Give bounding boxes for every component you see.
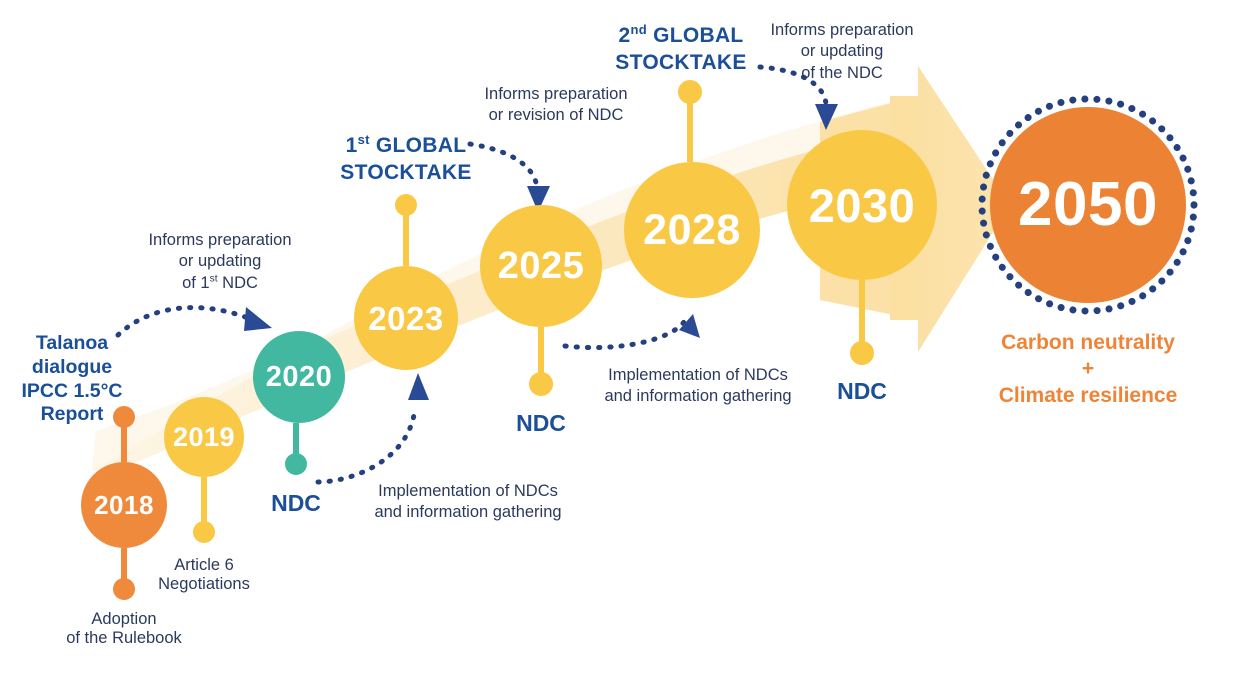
annotation-4-line-1: Implementation of NDCs — [600, 365, 796, 386]
label-2nd-global-stocktake: 2nd GLOBAL STOCKTAKE — [588, 23, 774, 77]
milestone-2028-year: 2028 — [643, 209, 741, 252]
milestone-2019-year: 2019 — [173, 424, 235, 451]
label-talanoa-line-4: Report — [6, 403, 138, 427]
milestone-2023-year: 2023 — [368, 302, 443, 335]
annotation-1-of-1: of 1 — [182, 274, 210, 292]
label-2050-line-1: Carbon neutrality — [960, 330, 1216, 356]
annotation-4-line-2: and information gathering — [600, 386, 796, 407]
milestone-2050[interactable]: 2050 — [990, 107, 1186, 303]
label-talanoa-line-2: dialogue — [6, 356, 138, 380]
annotation-2-line-1: Implementation of NDCs — [370, 481, 566, 502]
label-gst2-line-1: 2nd GLOBAL — [588, 23, 774, 50]
label-gst1-number: 1 — [346, 134, 358, 157]
milestone-2020[interactable]: 2020 — [253, 331, 345, 423]
label-adoption-of-the-rulebook: Adoption of the Rulebook — [28, 610, 220, 648]
milestone-2030[interactable]: 2030 — [787, 130, 937, 280]
annotation-1-line-3: of 1st NDC — [104, 273, 336, 294]
label-ndc-2030-text: NDC — [837, 378, 887, 404]
annotation-5-line-2: or updating — [762, 41, 922, 62]
annotation-1-ndc: NDC — [218, 274, 258, 292]
milestone-2030-year: 2030 — [809, 182, 916, 229]
label-gst1-line-2: STOCKTAKE — [316, 160, 496, 187]
label-gst1-rest: GLOBAL — [370, 134, 467, 157]
label-gst2-rest: GLOBAL — [647, 24, 744, 47]
label-adoption-line-1: Adoption — [28, 610, 220, 629]
label-gst2-number: 2 — [618, 24, 630, 47]
annotation-3-line-1: Informs preparation — [458, 84, 654, 105]
label-2050-line-3: Climate resilience — [960, 383, 1216, 409]
timeline-diagram: 2018 2019 2020 2023 2025 2028 2030 2050 … — [0, 0, 1256, 676]
annotation-implementation-1: Implementation of NDCs and information g… — [370, 481, 566, 524]
milestone-2025[interactable]: 2025 — [480, 205, 602, 327]
label-gst2-line-2: STOCKTAKE — [588, 50, 774, 77]
label-article6-line-1: Article 6 — [122, 556, 286, 575]
annotation-informs-revision-ndc: Informs preparation or revision of NDC — [458, 84, 654, 127]
label-ndc-2025: NDC — [493, 410, 589, 436]
annotation-2-line-2: and information gathering — [370, 502, 566, 523]
label-article6-line-2: Negotiations — [122, 575, 286, 594]
milestone-2018[interactable]: 2018 — [81, 462, 167, 548]
milestone-2025-year: 2025 — [498, 247, 585, 285]
milestone-2019[interactable]: 2019 — [164, 397, 244, 477]
label-talanoa-dialogue: Talanoa dialogue IPCC 1.5°C Report — [6, 332, 138, 427]
annotation-3-line-2: or revision of NDC — [458, 105, 654, 126]
annotation-informs-1st-ndc: Informs preparation or updating of 1st N… — [104, 230, 336, 294]
milestone-2023[interactable]: 2023 — [354, 266, 458, 370]
label-talanoa-line-3: IPCC 1.5°C — [6, 380, 138, 404]
annotation-1-line-1: Informs preparation — [104, 230, 336, 251]
milestone-2020-year: 2020 — [266, 363, 333, 392]
annotation-5-line-3: of the NDC — [762, 63, 922, 84]
label-ndc-2030: NDC — [814, 378, 910, 404]
annotation-informs-updating-the-ndc: Informs preparation or updating of the N… — [762, 20, 922, 84]
label-2050-target: Carbon neutrality + Climate resilience — [960, 330, 1216, 409]
label-article-6-negotiations: Article 6 Negotiations — [122, 556, 286, 594]
label-gst1-ordinal-suffix: st — [358, 132, 370, 147]
label-ndc-2025-text: NDC — [516, 410, 566, 436]
label-gst1-line-1: 1st GLOBAL — [316, 133, 496, 160]
milestone-2028[interactable]: 2028 — [624, 162, 760, 298]
milestone-2018-year: 2018 — [94, 492, 154, 518]
label-1st-global-stocktake: 1st GLOBAL STOCKTAKE — [316, 133, 496, 187]
annotation-5-line-1: Informs preparation — [762, 20, 922, 41]
annotation-implementation-2: Implementation of NDCs and information g… — [600, 365, 796, 408]
label-adoption-line-2: of the Rulebook — [28, 629, 220, 648]
label-ndc-2020: NDC — [248, 490, 344, 516]
annotation-1-ordinal-suffix: st — [210, 273, 218, 284]
label-talanoa-line-1: Talanoa — [6, 332, 138, 356]
milestone-2050-year: 2050 — [1018, 174, 1158, 236]
label-ndc-2020-text: NDC — [271, 490, 321, 516]
annotation-1-line-2: or updating — [104, 251, 336, 272]
label-2050-line-2: + — [960, 356, 1216, 382]
label-gst2-ordinal-suffix: nd — [630, 22, 647, 37]
